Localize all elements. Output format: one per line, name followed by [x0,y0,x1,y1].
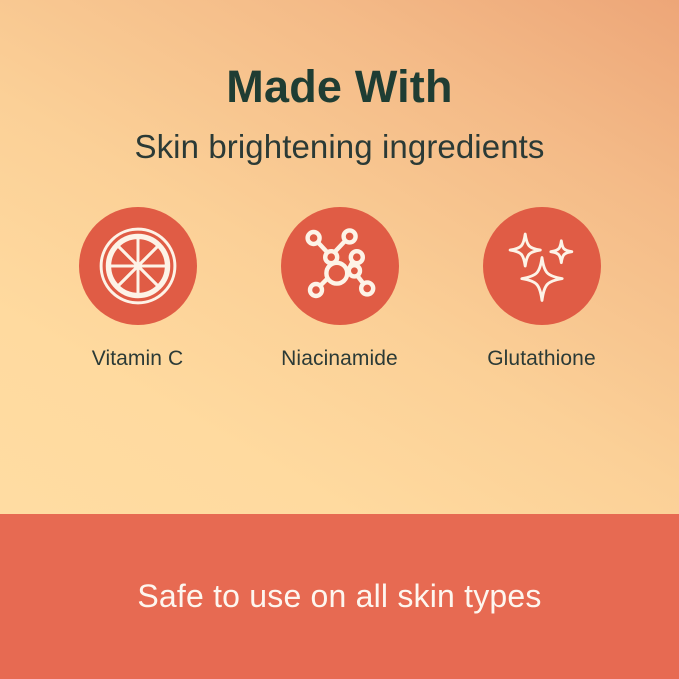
ingredient-item-niacinamide: Niacinamide [281,207,399,371]
sparkles-icon [500,224,584,308]
ingredient-label: Glutathione [487,347,596,371]
citrus-slice-icon [97,225,179,307]
ingredients-row: Vitamin C [0,207,679,371]
banner-text: Safe to use on all skin types [137,578,541,615]
heading-block: Made With Skin brightening ingredients [0,0,679,165]
made-with-infographic: Made With Skin brightening ingredients [0,0,679,679]
page-title: Made With [0,62,679,112]
ingredient-label: Niacinamide [281,347,398,371]
ingredient-icon-badge [483,207,601,325]
ingredient-icon-badge [79,207,197,325]
page-subtitle: Skin brightening ingredients [0,112,679,166]
ingredient-item-glutathione: Glutathione [483,207,601,371]
ingredient-item-vitamin-c: Vitamin C [79,207,197,371]
ingredient-icon-badge [281,207,399,325]
bottom-banner: Safe to use on all skin types [0,514,679,679]
top-gradient-panel: Made With Skin brightening ingredients [0,0,679,514]
molecule-icon [300,226,380,306]
ingredient-label: Vitamin C [92,347,184,371]
